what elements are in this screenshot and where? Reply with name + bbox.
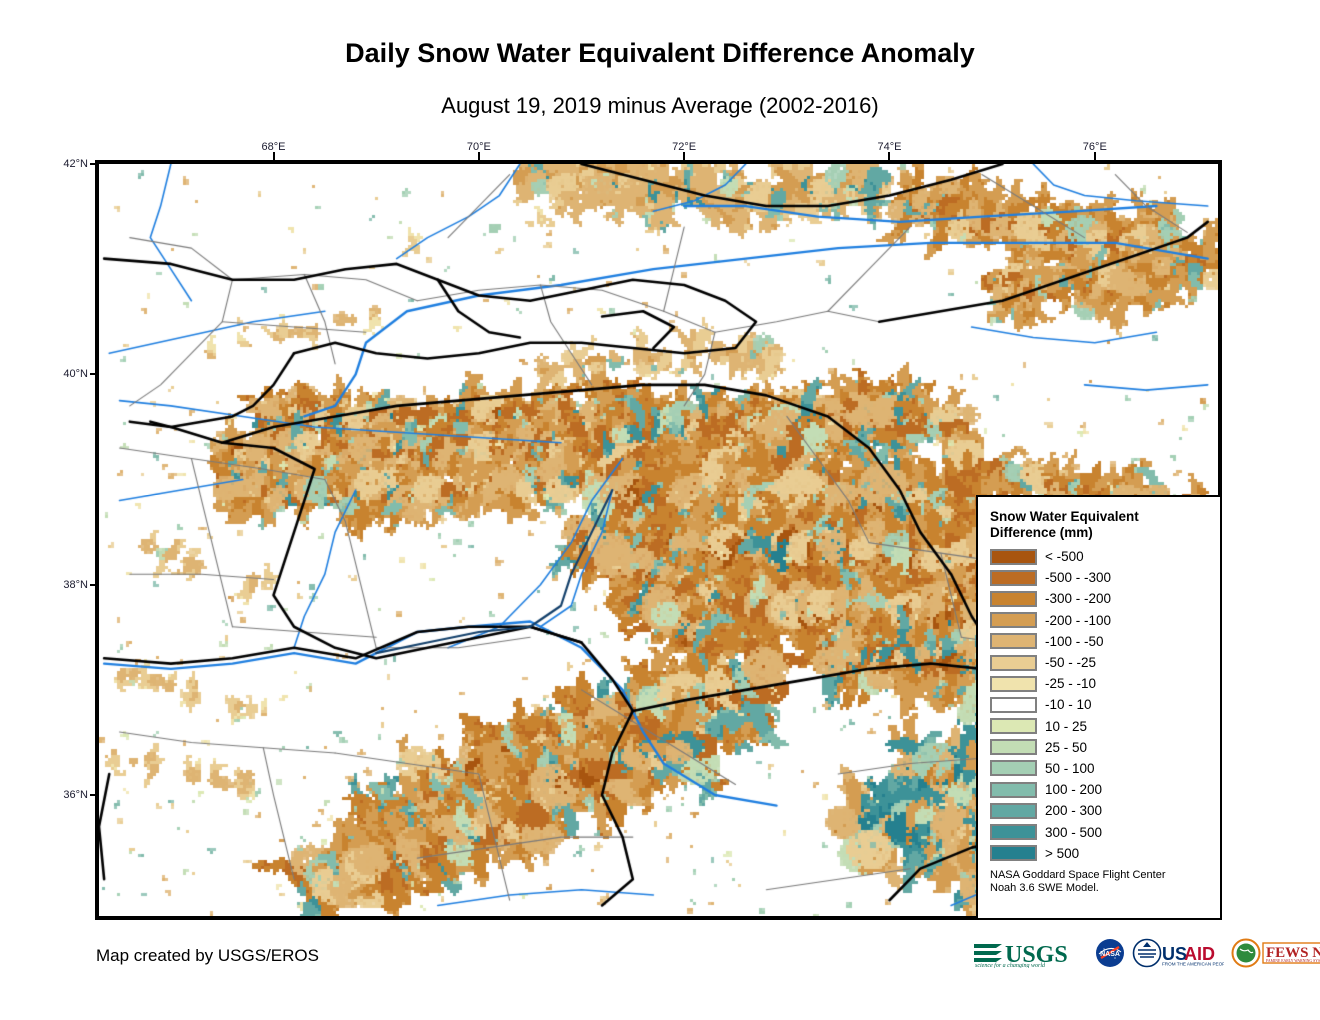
legend-label: 200 - 300 [1045,803,1102,818]
svg-text:NASA: NASA [1100,951,1120,958]
legend-item: -50 - -25 [990,652,1210,673]
legend-swatch [990,591,1037,607]
legend-item: 50 - 100 [990,758,1210,779]
legend-title-line1: Snow Water Equivalent [990,509,1210,525]
lon-tick [273,152,275,161]
lat-tick [90,794,99,796]
agency-logos: USGS science for a changing world NASA U… [972,936,1320,970]
nasa-logo: NASA [1095,938,1125,968]
legend-swatch [990,824,1037,840]
legend-label: 10 - 25 [1045,719,1087,734]
legend-swatch [990,676,1037,692]
legend-item: 10 - 25 [990,716,1210,737]
legend-label: -10 - 10 [1045,697,1092,712]
legend-item: 100 - 200 [990,779,1210,800]
svg-text:FAMINE EARLY WARNING SYSTEMS N: FAMINE EARLY WARNING SYSTEMS NETWORK [1266,959,1320,963]
legend-label: 50 - 100 [1045,761,1095,776]
legend-swatch [990,718,1037,734]
page-title: Daily Snow Water Equivalent Difference A… [0,38,1320,69]
legend-label: -50 - -25 [1045,655,1096,670]
legend-label: -200 - -100 [1045,613,1111,628]
legend-label: -25 - -10 [1045,676,1096,691]
lat-tick-label: 36°N [50,789,88,801]
lon-tick [888,152,890,161]
legend-swatch [990,633,1037,649]
legend-panel: Snow Water Equivalent Difference (mm) < … [976,495,1222,920]
legend-swatch [990,655,1037,671]
lat-tick [90,373,99,375]
legend-item: > 500 [990,843,1210,864]
usaid-logo: US AID FROM THE AMERICAN PEOPLE [1132,938,1224,968]
legend-attribution: NASA Goddard Space Flight Center Noah 3.… [990,869,1210,895]
legend-swatch [990,570,1037,586]
legend-item: -100 - -50 [990,631,1210,652]
legend-swatch [990,549,1037,565]
legend-item: < -500 [990,546,1210,567]
legend-item: -25 - -10 [990,673,1210,694]
legend-label: > 500 [1045,846,1079,861]
legend-item: -10 - 10 [990,694,1210,715]
legend-label: -100 - -50 [1045,634,1104,649]
lon-tick [683,152,685,161]
legend-swatch [990,845,1037,861]
attribution-line1: NASA Goddard Space Flight Center [990,869,1210,882]
page-subtitle: August 19, 2019 minus Average (2002-2016… [0,93,1320,119]
lat-tick-label: 40°N [50,368,88,380]
legend-item-list: < -500-500 - -300-300 - -200-200 - -100-… [990,546,1210,864]
legend-item: -300 - -200 [990,588,1210,609]
lon-tick [478,152,480,161]
lon-tick [1094,152,1096,161]
legend-title-line2: Difference (mm) [990,525,1210,541]
legend-item: -500 - -300 [990,567,1210,588]
lat-tick-label: 38°N [50,579,88,591]
legend-swatch [990,612,1037,628]
legend-label: 25 - 50 [1045,740,1087,755]
legend-item: 200 - 300 [990,800,1210,821]
lat-tick [90,584,99,586]
legend-label: -300 - -200 [1045,591,1111,606]
lat-tick-label: 42°N [50,158,88,170]
legend-swatch [990,760,1037,776]
usgs-logo: USGS science for a changing world [972,938,1088,968]
svg-text:science for a changing world: science for a changing world [975,962,1046,968]
legend-item: 25 - 50 [990,737,1210,758]
svg-text:FROM THE AMERICAN PEOPLE: FROM THE AMERICAN PEOPLE [1162,962,1224,967]
legend-title: Snow Water Equivalent Difference (mm) [990,509,1210,540]
legend-label: -500 - -300 [1045,570,1111,585]
legend-swatch [990,782,1037,798]
legend-item: -200 - -100 [990,610,1210,631]
legend-label: 100 - 200 [1045,782,1102,797]
legend-swatch [990,803,1037,819]
legend-swatch [990,697,1037,713]
legend-item: 300 - 500 [990,821,1210,842]
legend-label: < -500 [1045,549,1084,564]
map-credit: Map created by USGS/EROS [96,946,319,966]
lat-tick [90,163,99,165]
fews-net-logo: FEWS NET FAMINE EARLY WARNING SYSTEMS NE… [1231,938,1320,968]
legend-label: 300 - 500 [1045,825,1102,840]
legend-swatch [990,739,1037,755]
attribution-line2: Noah 3.6 SWE Model. [990,882,1210,895]
map-page: Daily Snow Water Equivalent Difference A… [0,0,1320,1020]
